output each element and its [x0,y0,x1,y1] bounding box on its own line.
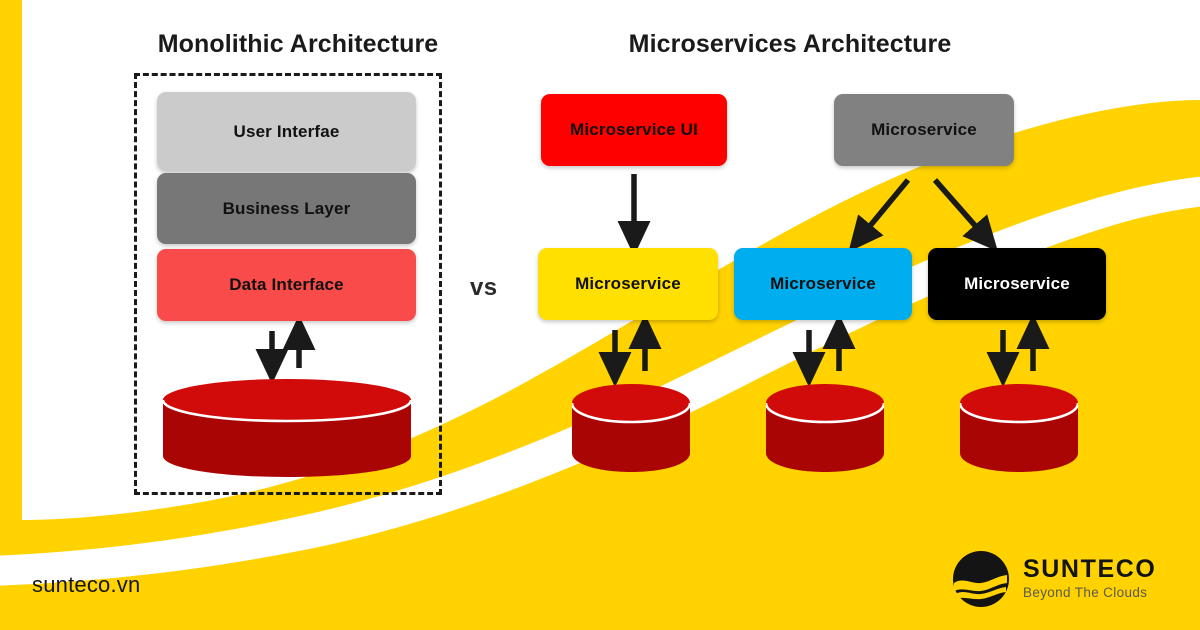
microservice-black-box[interactable]: Microservice [928,248,1106,320]
brand-lockup: SUNTECO Beyond The Clouds [952,546,1172,612]
arrow-gray-to-cyan [860,180,908,238]
monolithic-section-title: Monolithic Architecture [88,30,508,59]
microservice-ui-box[interactable]: Microservice UI [541,94,727,166]
versus-label: vs [470,274,498,302]
infographic-canvas: Monolithic Architecture Microservices Ar… [0,0,1200,630]
brand-text-block: SUNTECO Beyond The Clouds [1023,556,1156,602]
monolith-layer-user-interface[interactable]: User Interfae [157,92,416,171]
monolith-layer-business[interactable]: Business Layer [157,173,416,244]
sun-cloud-circle-icon [952,550,1010,608]
database-yellow-icon [572,383,690,473]
database-cyan-icon [766,383,884,473]
site-url-text[interactable]: sunteco.vn [32,572,140,598]
database-black-icon [960,383,1078,473]
arrow-gray-to-black [935,180,986,238]
monolith-database-icon [163,378,411,478]
monolith-layer-data-interface[interactable]: Data Interface [157,249,416,321]
microservice-cyan-box[interactable]: Microservice [734,248,912,320]
brand-tagline-text: Beyond The Clouds [1023,585,1156,602]
microservice-yellow-box[interactable]: Microservice [538,248,718,320]
brand-name-text: SUNTECO [1023,556,1156,582]
microservices-section-title: Microservices Architecture [560,30,1020,59]
microservice-gray-box[interactable]: Microservice [834,94,1014,166]
